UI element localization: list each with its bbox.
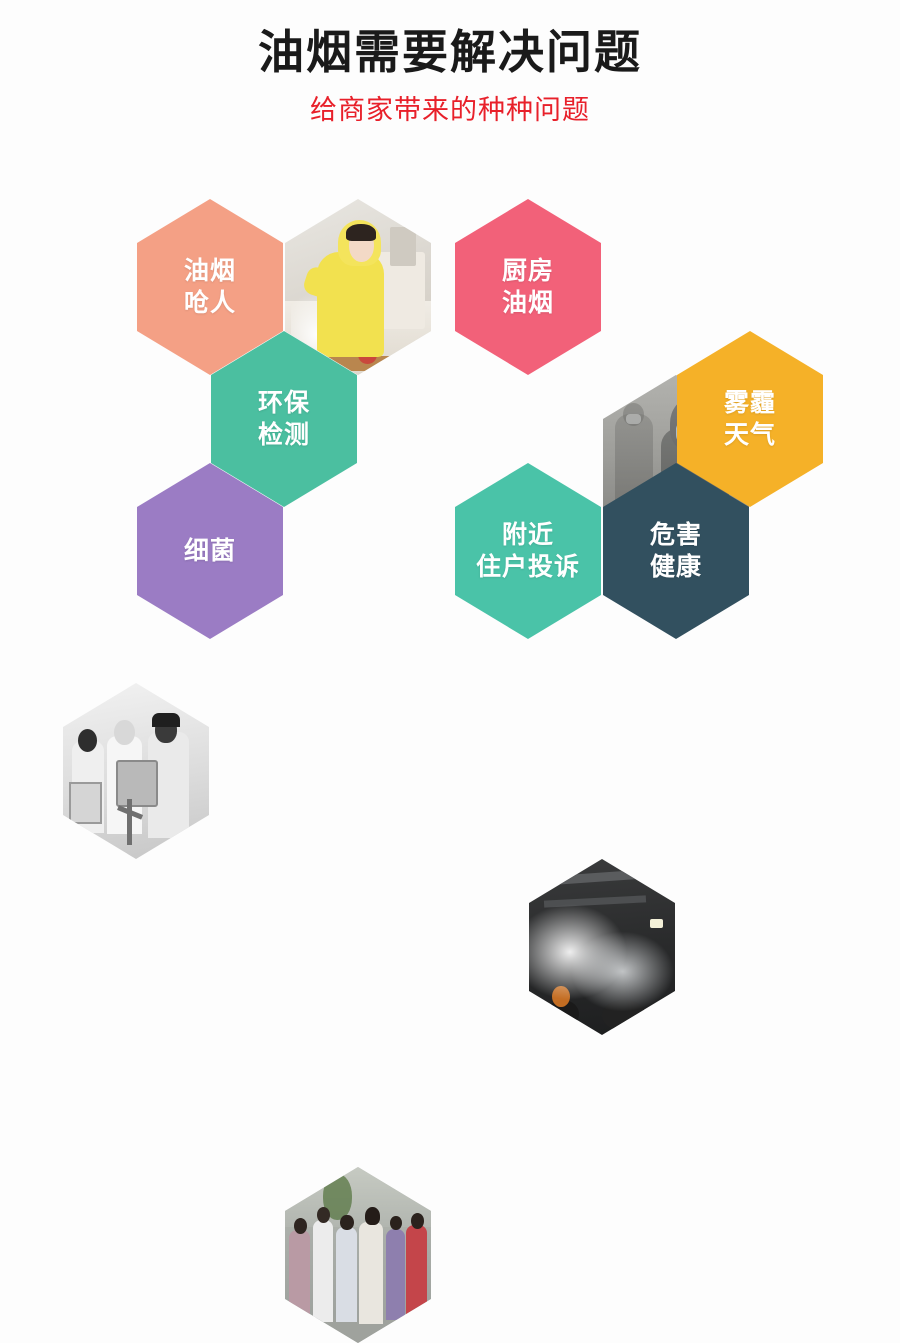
hex-label-environmental-inspection: 环保 检测 [252,387,316,451]
photo-shape-hood [390,227,416,266]
hex-cell-residents-crowd-photo[interactable] [285,1167,431,1343]
hex-label-kitchen-oil-smoke: 厨房 油烟 [496,255,560,319]
photo-shape-c4h [365,1207,380,1225]
photo-shape-steamB [564,926,675,1018]
photo-shape-c6 [406,1225,426,1322]
photo-shape-c4 [359,1222,382,1324]
page-title: 油烟需要解决问题 [0,0,900,79]
photo-shape-c3 [336,1227,356,1322]
photo-shape-tri [127,799,131,845]
hex-cell-lab-inspection-photo[interactable] [63,683,209,859]
hex-label-haze-weather: 雾霾 天气 [718,387,782,451]
hex-label-bacteria: 细菌 [178,535,242,567]
hex-cell-nearby-resident-complaints[interactable]: 附近 住户投诉 [455,463,601,639]
photo-shape-c5h [390,1216,402,1230]
hex-cell-kitchen-oil-smoke[interactable]: 厨房 油烟 [455,199,601,375]
photo-shape-cap [152,713,180,727]
photo-shape-wall [285,1167,431,1227]
photo-shape-c1h [294,1218,307,1234]
page-header: 油烟需要解决问题 给商家带来的种种问题 [0,0,900,180]
hex-label-nearby-resident-complaints: 附近 住户投诉 [470,519,586,583]
photo-shape-p1h [78,729,97,752]
photo-shape-ground [285,1318,431,1343]
photo-shape-hair [346,224,375,242]
photo-shape-mon [69,782,102,825]
photo-shape-dev [116,760,158,806]
photo-shape-c2 [313,1220,333,1322]
hex-label-harms-health: 危害 健康 [644,519,708,583]
page-subtitle: 给商家带来的种种问题 [0,79,900,126]
hexagon-grid: 油烟 呛人厨房 油烟环保 检测雾霾 天气细菌附近 住户投诉危害 健康 [0,180,900,705]
hex-label-oil-smoke-choking: 油烟 呛人 [178,255,242,319]
photo-shape-p2h [114,720,134,745]
photo-shape-c5 [386,1229,405,1321]
photo-shape-c1 [289,1230,309,1322]
photo-shape-c3h [340,1215,353,1231]
photo-shape-c6h [411,1213,424,1229]
photo-shape-body [317,252,384,358]
hex-cell-commercial-kitchen-steam-photo[interactable] [529,859,675,1035]
